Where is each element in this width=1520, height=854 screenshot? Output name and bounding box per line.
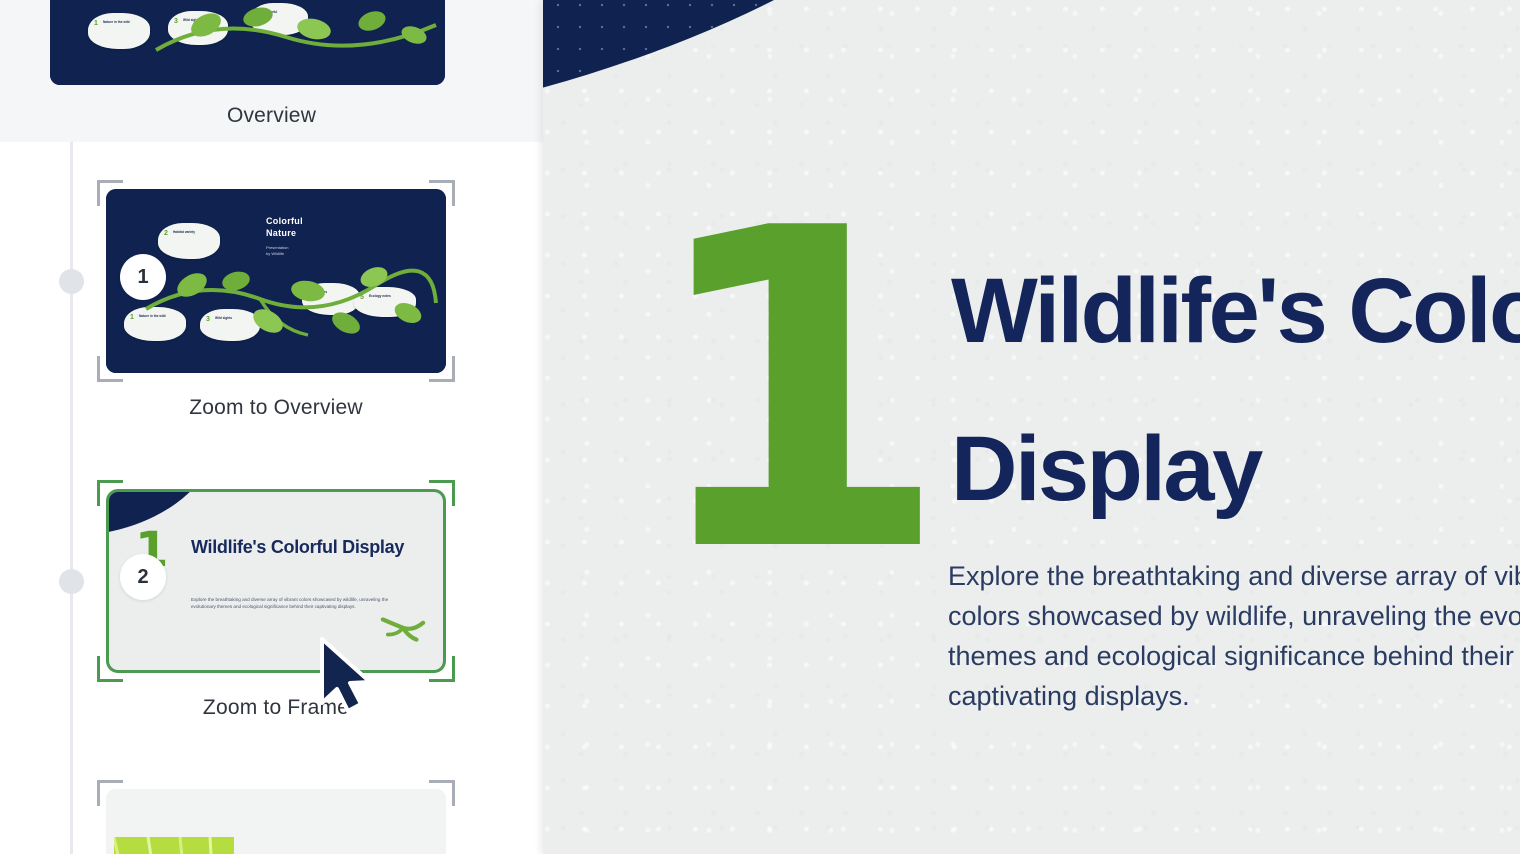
nav-item-label: Zoom to Overview	[97, 396, 455, 420]
thumbnail-title: ColorfulNature	[266, 215, 303, 239]
slide-body-text: Explore the breathtaking and diverse arr…	[948, 556, 1520, 716]
overview-thumbnail-canvas: 1Nature in the wild 3Wild sights Colorfu…	[50, 0, 445, 85]
thumbnail-slide-body: Explore the breathtaking and diverse arr…	[191, 596, 391, 610]
slide-number: 1	[644, 222, 950, 562]
nav-item-frame	[97, 780, 455, 854]
nav-item-badge: 2	[120, 554, 166, 600]
leaf-sprig-decoration	[140, 251, 440, 361]
thumbnail-slide-title: Wildlife's Colorful Display	[191, 536, 421, 558]
green-sprig-arrow-icon	[377, 606, 429, 648]
nav-item-badge: 1	[120, 254, 166, 300]
overview-thumbnail[interactable]: 1Nature in the wild 3Wild sights Colorfu…	[50, 0, 445, 85]
nav-item-zoom-to-overview[interactable]: ColorfulNature Presentationby Wildlife 2…	[97, 180, 455, 420]
slide-title-line-1: Wildlife's Colorful	[951, 260, 1520, 362]
timeline-dot-2[interactable]	[59, 569, 84, 594]
leaf-sprig-decoration	[146, 0, 445, 85]
nav-item-frame: 1 Wildlife's Colorful Display Explore th…	[97, 480, 455, 682]
leaf-photo-image	[114, 837, 234, 854]
slide-navigator-panel: 1Nature in the wild 3Wild sights Colorfu…	[0, 0, 543, 854]
thumbnail-canvas-leaf	[106, 789, 446, 854]
overview-pill: 1Nature in the wild	[88, 13, 150, 49]
slide-stage[interactable]: 1 Wildlife's ColorfulDisplay Explore the…	[543, 0, 1520, 854]
nav-item-frame: ColorfulNature Presentationby Wildlife 2…	[97, 180, 455, 382]
nav-item-zoom-to-frame[interactable]: 1 Wildlife's Colorful Display Explore th…	[97, 480, 455, 720]
overview-label: Overview	[0, 104, 543, 128]
timeline-dot-1[interactable]	[59, 269, 84, 294]
nav-item-next-slide[interactable]	[97, 780, 455, 854]
slide-title: Wildlife's ColorfulDisplay	[951, 232, 1520, 548]
nav-item-thumbnail[interactable]	[106, 789, 446, 854]
presentation-zoom-navigator: 1Nature in the wild 3Wild sights Colorfu…	[0, 0, 1520, 854]
nav-item-label: Zoom to Frame	[97, 696, 455, 720]
timeline-rail	[70, 142, 73, 854]
slide-title-line-2: Display	[951, 418, 1261, 520]
